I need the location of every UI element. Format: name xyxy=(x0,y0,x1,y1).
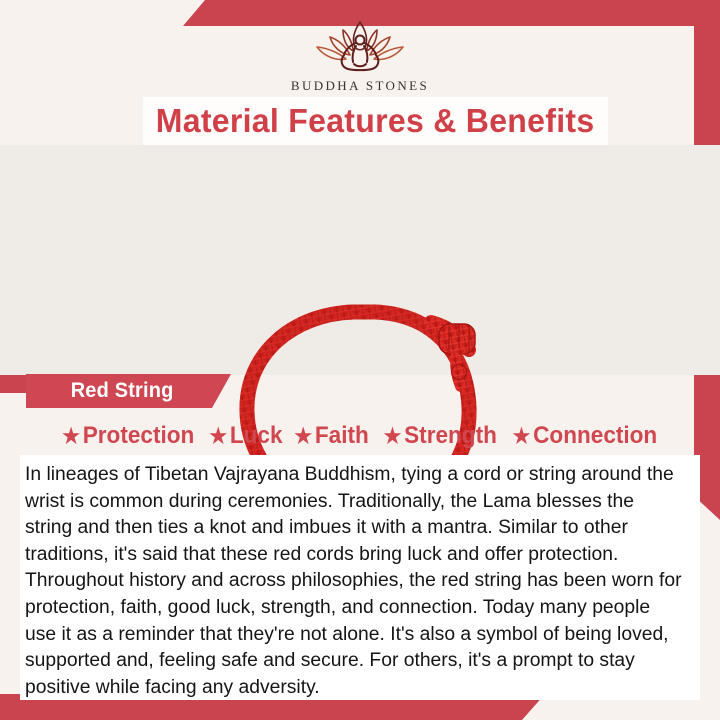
benefit-label: Luck xyxy=(229,422,282,450)
benefit-protection: ★ Protection xyxy=(59,422,199,450)
star-icon: ★ xyxy=(513,426,531,447)
star-icon: ★ xyxy=(295,426,313,447)
benefit-label: Connection xyxy=(533,422,657,450)
benefit-connection: ★ Connection xyxy=(509,422,661,450)
description-panel: In lineages of Tibetan Vajrayana Buddhis… xyxy=(20,455,700,700)
product-label-banner: Red String xyxy=(26,374,231,408)
benefit-label: Faith xyxy=(315,422,369,450)
benefits-row: ★ Protection ★ Luck ★ Faith ★ Strength ★… xyxy=(0,419,720,453)
benefit-strength: ★ Strength xyxy=(379,422,500,450)
page-title-band: Material Features & Benefits xyxy=(143,97,608,145)
benefit-faith: ★ Faith xyxy=(291,422,373,450)
benefit-luck: ★ Luck xyxy=(205,422,286,450)
star-icon: ★ xyxy=(62,426,80,447)
star-icon: ★ xyxy=(209,426,227,447)
benefit-label: Strength xyxy=(404,422,497,450)
page-title: Material Features & Benefits xyxy=(156,102,595,140)
brand-name: BUDDHA STONES xyxy=(291,78,429,94)
star-icon: ★ xyxy=(383,426,401,447)
product-label: Red String xyxy=(71,379,174,403)
description-text: In lineages of Tibetan Vajrayana Buddhis… xyxy=(25,461,682,700)
product-image-area xyxy=(0,145,720,375)
product-info-poster: BUDDHA STONES Material Features & Benefi… xyxy=(0,0,720,720)
lotus-meditation-logo-icon xyxy=(306,18,414,74)
brand-logo: BUDDHA STONES xyxy=(0,18,720,94)
benefit-label: Protection xyxy=(83,422,195,450)
